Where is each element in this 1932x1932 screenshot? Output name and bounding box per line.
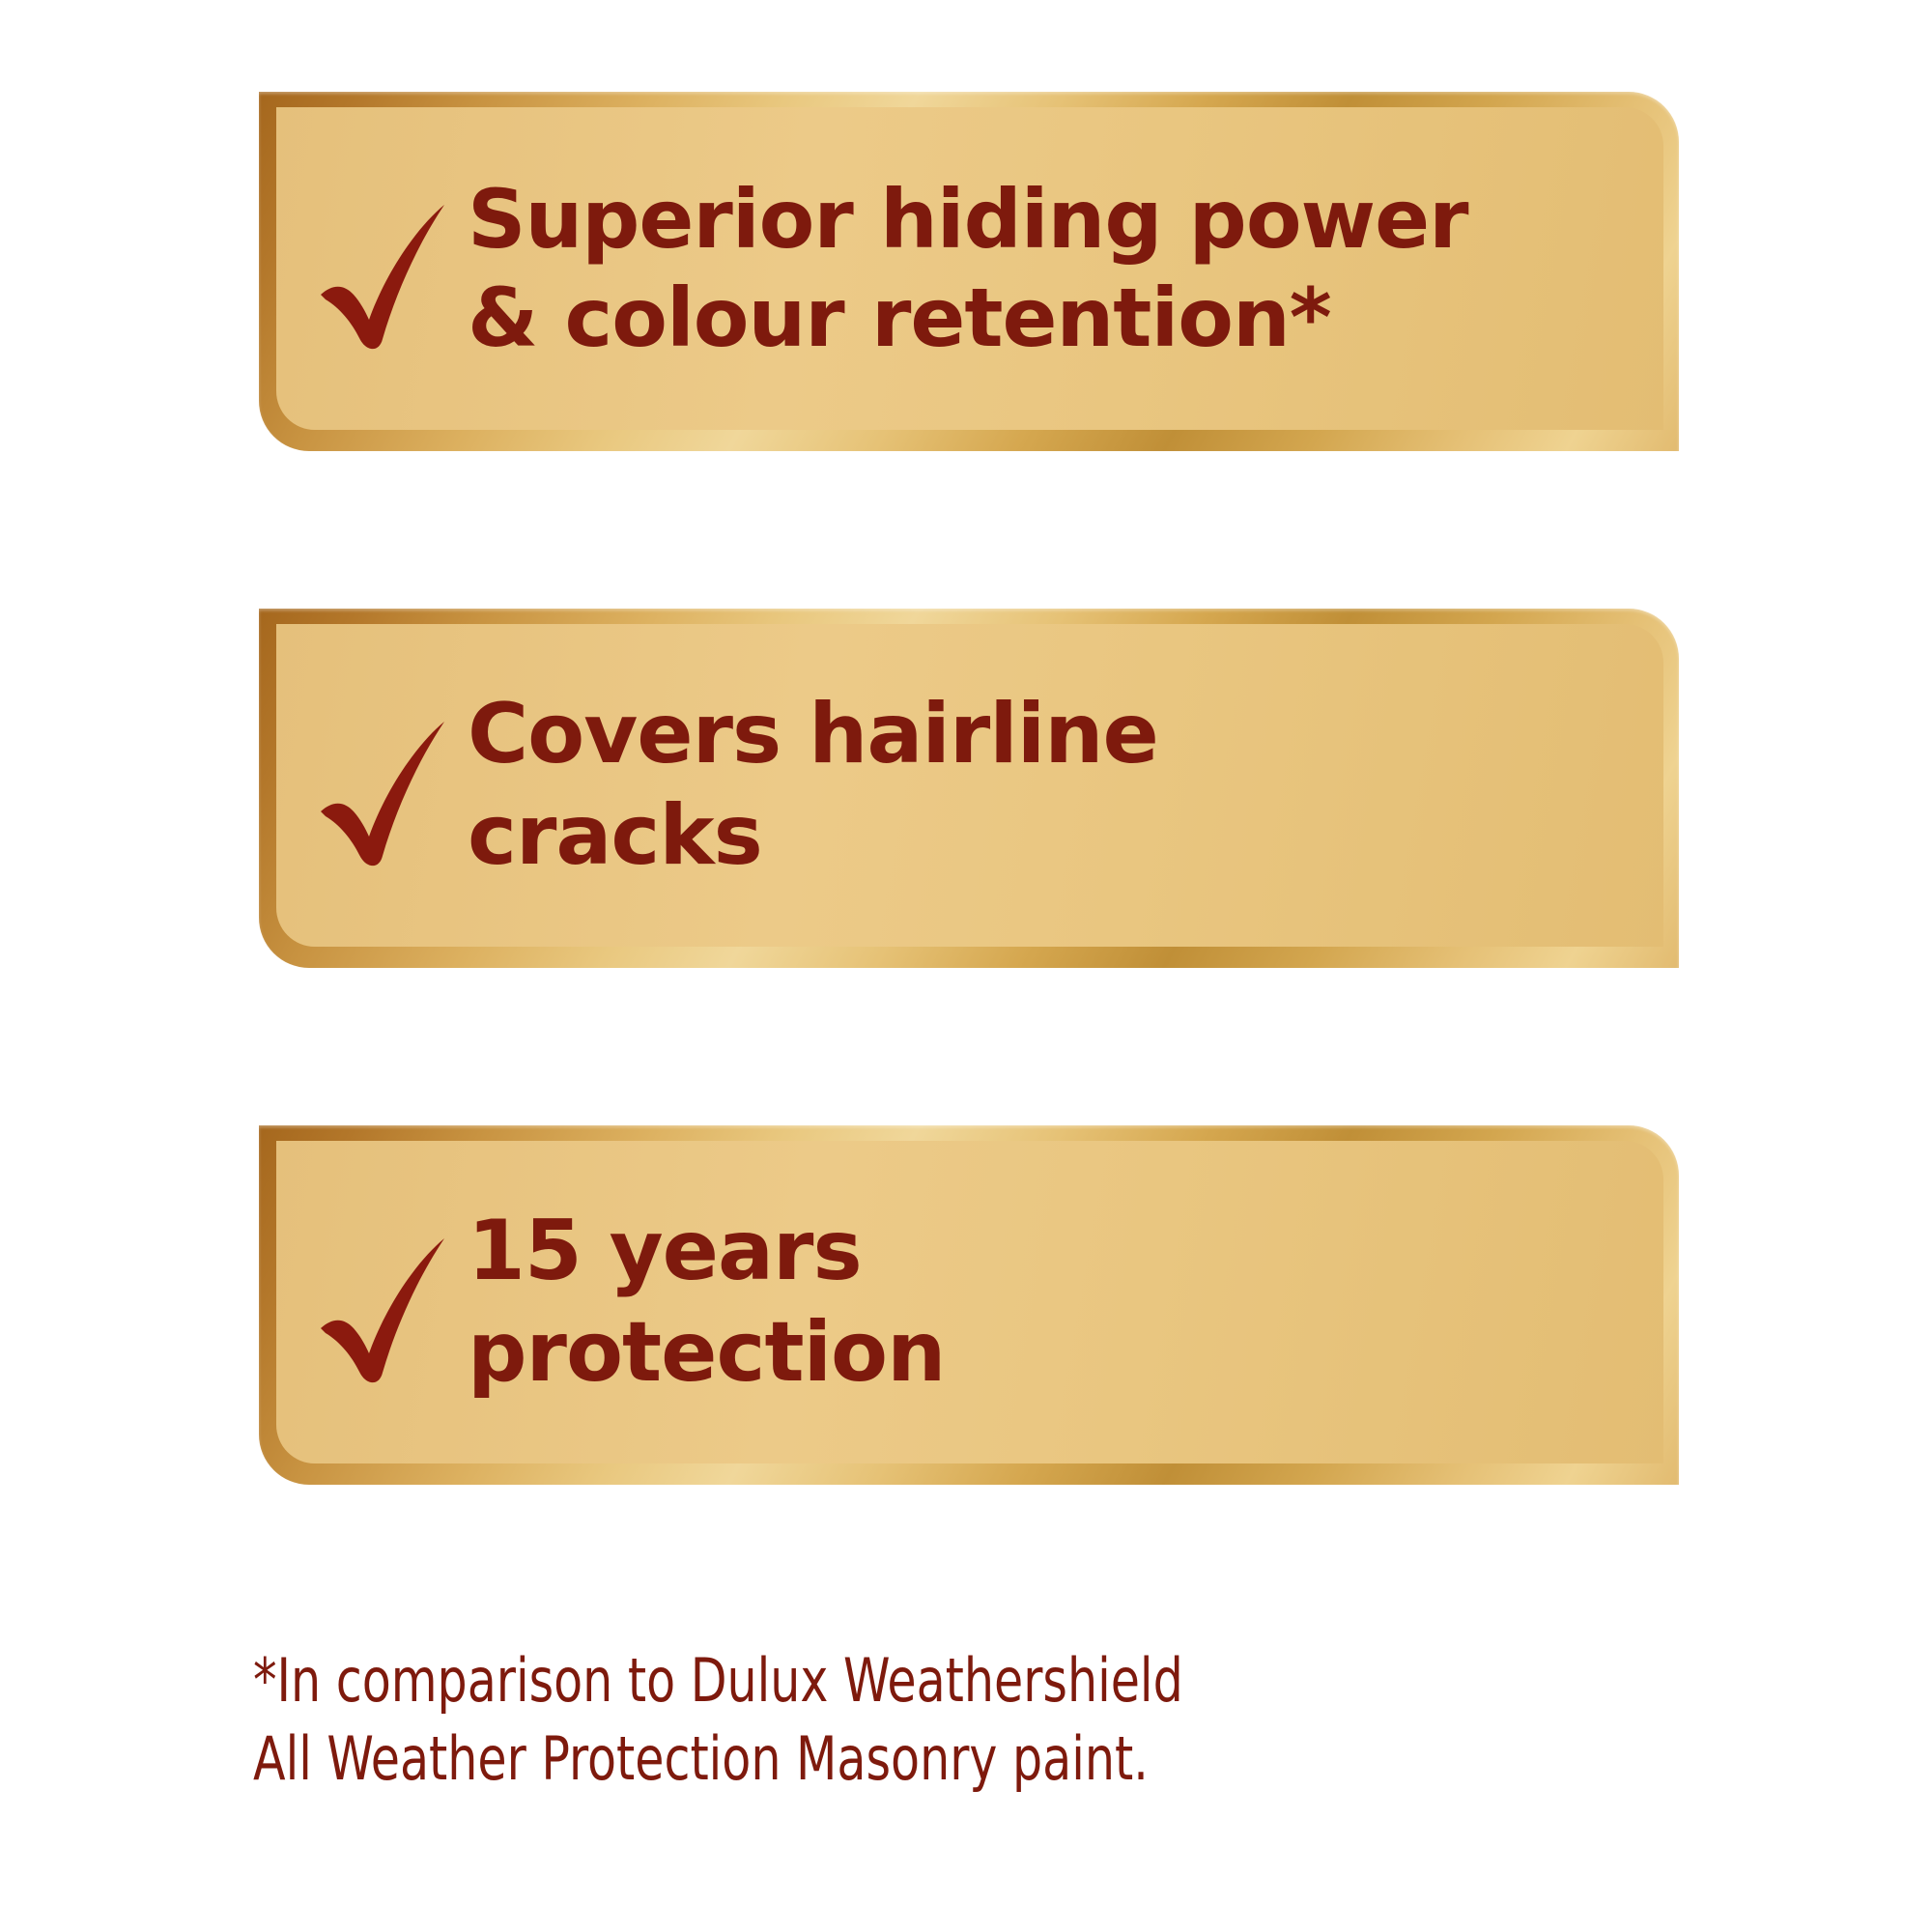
feature-highlight-panel: Superior hiding power & colour retention… — [0, 0, 1932, 1932]
feature-card-3-inner: 15 years protection — [276, 1141, 1663, 1463]
feature-card-1-label: Superior hiding power & colour retention… — [468, 170, 1663, 368]
feature-card-3-label: 15 years protection — [468, 1201, 1663, 1404]
feature-card-2: Covers hairline cracks — [259, 609, 1679, 968]
footnote-text: *In comparison to Dulux Weathershield Al… — [253, 1642, 1579, 1798]
feature-card-2-label: Covers hairline cracks — [468, 684, 1663, 887]
feature-card-2-inner: Covers hairline cracks — [276, 624, 1663, 947]
check-mark-icon — [305, 186, 450, 351]
check-mark-icon — [305, 1220, 450, 1384]
check-mark-icon — [305, 703, 450, 867]
feature-card-3: 15 years protection — [259, 1125, 1679, 1485]
feature-card-1-inner: Superior hiding power & colour retention… — [276, 107, 1663, 430]
feature-card-1: Superior hiding power & colour retention… — [259, 92, 1679, 451]
